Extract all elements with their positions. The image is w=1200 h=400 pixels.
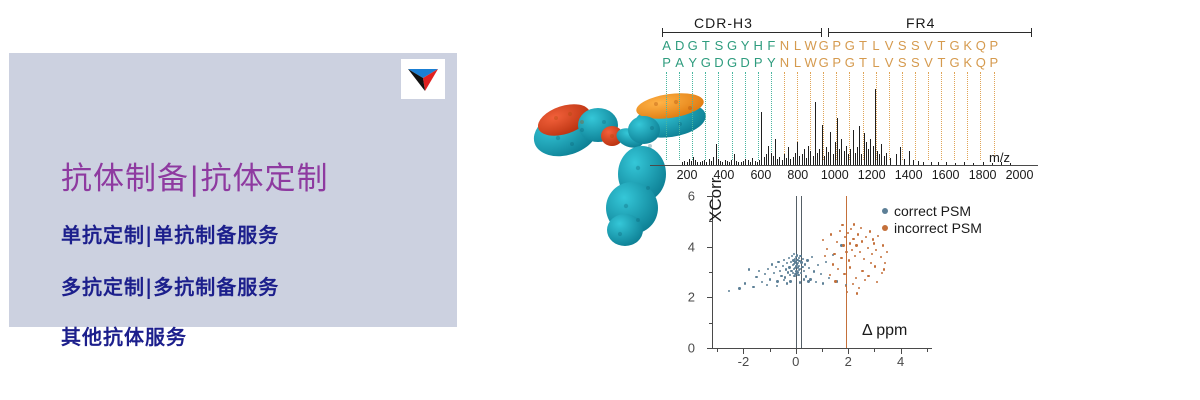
scatter-point [876, 281, 878, 283]
spectrum-peak [873, 146, 874, 165]
scatter-point [870, 262, 872, 264]
residue-fr-0-15: Q [974, 38, 987, 53]
scatter-point [808, 267, 810, 269]
spectrum-peak [848, 154, 849, 165]
residue-cdr-0-2: G [686, 38, 699, 53]
spectrum-peak [819, 149, 820, 165]
scatter-point [804, 263, 806, 265]
scatter-point [851, 249, 853, 251]
spectrum-peak [752, 158, 753, 165]
residue-cdr-0-1: D [673, 38, 686, 53]
spectrum-peak [875, 89, 876, 165]
scatter-point [849, 242, 851, 244]
spectrum-peak [784, 154, 785, 165]
scatter-x-label--2: -2 [738, 354, 750, 369]
spectrum-peak [909, 151, 910, 165]
scatter-point [857, 233, 859, 235]
scatter-point [788, 257, 790, 259]
scatter-point [767, 268, 769, 270]
scatter-point [789, 274, 791, 276]
scatter-point [798, 257, 800, 259]
mz-axis-label: m/z [989, 150, 1010, 165]
residue-fr-0-1: L [791, 38, 804, 53]
residue-fr-0-13: G [948, 38, 961, 53]
scatter-point [748, 268, 750, 270]
scatter-point [800, 261, 802, 263]
scatter-x-label-2: 2 [845, 354, 852, 369]
spectrum-peak [797, 142, 798, 165]
spectrum-peak [771, 153, 772, 165]
company-logo [401, 59, 445, 99]
scatter-x-axis [712, 348, 932, 349]
spectrum-baseline-axis [650, 165, 1038, 166]
residue-cdr-1-2: Y [686, 55, 699, 70]
scatter-point [839, 230, 841, 232]
residue-fr-0-16: P [987, 38, 1000, 53]
scatter-point [769, 278, 771, 280]
residue-fr-1-8: V [883, 55, 896, 70]
scatter-point [815, 281, 817, 283]
spectrum-peak [857, 147, 858, 165]
scatter-legend: correct PSM incorrect PSM [882, 202, 1012, 236]
legend-label-correct: correct PSM [894, 203, 971, 219]
scatter-point [807, 280, 809, 282]
scatter-x-axis-label: Δ ppm [862, 322, 907, 340]
spectrum-peak [766, 154, 767, 165]
scatter-point [805, 275, 807, 277]
residue-fr-1-13: G [948, 55, 961, 70]
residue-fr-0-11: V [922, 38, 935, 53]
spectrum-peak [835, 142, 836, 165]
spectrum-peak [890, 158, 891, 165]
scatter-point [836, 241, 838, 243]
scatter-point [834, 280, 836, 282]
scatter-point [840, 257, 842, 259]
scatter-point [848, 259, 850, 261]
spectrum-peak [828, 152, 829, 165]
scatter-point [822, 239, 824, 241]
residue-cdr-1-3: G [699, 55, 712, 70]
residue-cdr-1-5: G [725, 55, 738, 70]
residue-fr-0-10: S [909, 38, 922, 53]
scatter-point [874, 265, 876, 267]
scatter-point [728, 290, 730, 292]
spectrum-peak [841, 139, 842, 165]
scatter-point [861, 270, 863, 272]
mz-tick-1000: 1000 [821, 168, 849, 182]
scatter-point [883, 268, 885, 270]
scatter-point [811, 256, 813, 258]
spectrum-peak [826, 147, 827, 165]
scatter-point [872, 238, 874, 240]
spectrum-peak [859, 126, 860, 165]
scatter-point [797, 262, 799, 264]
scatter-point [755, 276, 757, 278]
spectrum-peak [853, 130, 854, 165]
spectrum-peak [900, 147, 901, 165]
spectrum-peak [813, 156, 814, 165]
scatter-point [858, 287, 860, 289]
scatter-point [871, 253, 873, 255]
scatter-point [802, 258, 804, 260]
mz-tick-1200: 1200 [858, 168, 886, 182]
spectrum-peak [802, 154, 803, 165]
scatter-point [850, 228, 852, 230]
scatter-point [801, 266, 803, 268]
scatter-point [825, 261, 827, 263]
spectrum-peak [786, 158, 787, 165]
residue-fr-0-8: V [883, 38, 896, 53]
spectrum-peak [833, 154, 834, 165]
spectrum-peak [773, 156, 774, 165]
scatter-point [886, 251, 888, 253]
spectrum-peak [855, 153, 856, 165]
region-label-cdr-h3: CDR-H3 [694, 15, 753, 31]
scatter-point [828, 277, 830, 279]
scatter-x-label-4: 4 [897, 354, 904, 369]
residue-fr-0-12: T [935, 38, 948, 53]
scatter-point [738, 287, 740, 289]
spectrum-peak [870, 139, 871, 165]
scatter-point [832, 263, 834, 265]
spectrum-peak [817, 153, 818, 165]
spectrum-peak [881, 144, 882, 165]
promo-panel: 抗体制备|抗体定制 单抗定制|单抗制备服务 多抗定制|多抗制备服务 其他抗体服务 [9, 53, 457, 327]
spectrum-peak [793, 157, 794, 165]
scatter-point [882, 244, 884, 246]
scatter-y-label-0: 0 [688, 341, 695, 356]
antibody-sequencing-figure: CDR-H3 FR4 ADGTSGYHFNLWGPGTLVSSVTGKQP PA… [500, 0, 1200, 400]
scatter-point [779, 270, 781, 272]
residue-fr-1-16: P [987, 55, 1000, 70]
residue-fr-1-5: G [843, 55, 856, 70]
scatter-point [824, 255, 826, 257]
scatter-x-label-0: 0 [792, 354, 799, 369]
scatter-point [783, 279, 785, 281]
spectrum-peak [768, 146, 769, 165]
spectrum-peak [804, 149, 805, 165]
page-title: 抗体制备|抗体定制 [61, 153, 328, 198]
scatter-point [803, 278, 805, 280]
scatter-point [776, 280, 778, 282]
residue-fr-0-9: S [896, 38, 909, 53]
promo-link-other-services[interactable]: 其他抗体服务 [61, 321, 187, 350]
residue-fr-0-2: W [804, 38, 817, 53]
scatter-point [788, 266, 790, 268]
spectrum-peak [844, 151, 845, 165]
residue-fr-0-5: G [843, 38, 856, 53]
residue-cdr-0-6: Y [739, 38, 752, 53]
spectrum-peak [896, 154, 897, 165]
residue-fr-1-9: S [896, 55, 909, 70]
psm-scatter-plot: 0246-2024 XCorr Δ ppm correct PSM incorr… [696, 196, 932, 356]
spectrum-peak [868, 149, 869, 165]
scatter-point [856, 292, 858, 294]
residue-fr-1-11: V [922, 55, 935, 70]
region-bar-cdr-h3 [662, 32, 822, 33]
spectrum-peak [815, 102, 816, 165]
scatter-point [863, 258, 865, 260]
spectrum-peak [884, 156, 885, 165]
scatter-point [761, 281, 763, 283]
spectrum-peak [810, 151, 811, 165]
spectrum-peak [779, 157, 780, 165]
scatter-point [830, 233, 832, 235]
spectrum-peak [761, 112, 762, 165]
legend-item-correct-psm: correct PSM [882, 202, 1012, 219]
scatter-point [845, 251, 847, 253]
spectrum-peak [713, 157, 714, 165]
spectrum-peak [861, 154, 862, 165]
spectrum-peak [788, 147, 789, 165]
scatter-y-label-4: 4 [688, 239, 695, 254]
residue-fr-1-0: N [778, 55, 791, 70]
mz-tick-1400: 1400 [895, 168, 923, 182]
promo-link-monoclonal[interactable]: 单抗定制|单抗制备服务 [61, 219, 279, 248]
residue-fr-0-6: T [856, 38, 869, 53]
scatter-y-label-2: 2 [688, 290, 695, 305]
mz-tick-800: 800 [787, 168, 808, 182]
residue-cdr-0-7: H [752, 38, 765, 53]
scatter-point [861, 240, 863, 242]
scatter-point [777, 261, 779, 263]
region-label-fr4: FR4 [906, 15, 935, 31]
spectrum-peak [808, 146, 809, 165]
scatter-point [860, 227, 862, 229]
mz-tick-1800: 1800 [969, 168, 997, 182]
mz-tick-2000: 2000 [1006, 168, 1034, 182]
mz-tick-200: 200 [677, 168, 698, 182]
sequence-row-bottom: PAYGDGDPYNLWGPGTLVSSVTGKQP [660, 55, 1000, 72]
residue-cdr-0-8: F [765, 38, 778, 53]
scatter-point [873, 242, 875, 244]
scatter-point [845, 285, 847, 287]
residue-cdr-0-5: G [725, 38, 738, 53]
scatter-point [820, 273, 822, 275]
scatter-point [855, 277, 857, 279]
scatter-point [849, 266, 851, 268]
scatter-point [783, 259, 785, 261]
scatter-point [789, 280, 791, 282]
spectrum-peak [764, 157, 765, 165]
residue-fr-1-3: G [817, 55, 830, 70]
scatter-point [813, 270, 815, 272]
scatter-point [867, 275, 869, 277]
spectrum-peak [824, 156, 825, 165]
scatter-point [798, 265, 800, 267]
residue-cdr-1-1: A [673, 55, 686, 70]
mz-tick-1600: 1600 [932, 168, 960, 182]
scatter-point [852, 238, 854, 240]
legend-item-incorrect-psm: incorrect PSM [882, 219, 1012, 236]
spectrum-peak [877, 151, 878, 165]
scatter-point [780, 275, 782, 277]
sequence-row-top: ADGTSGYHFNLWGPGTLVSSVTGKQP [660, 38, 1000, 55]
scatter-point [877, 235, 879, 237]
scatter-point [826, 248, 828, 250]
scatter-point [773, 272, 775, 274]
residue-fr-1-14: K [961, 55, 974, 70]
residue-fr-1-2: W [804, 55, 817, 70]
spectrum-peak [795, 153, 796, 165]
residue-fr-1-6: T [856, 55, 869, 70]
scatter-point [791, 255, 793, 257]
spectrum-peak [775, 139, 776, 165]
scatter-point [884, 262, 886, 264]
scatter-point [771, 263, 773, 265]
scatter-y-axis-label: XCorr [706, 178, 726, 222]
scatter-point [841, 224, 843, 226]
chevron-logo-icon [406, 64, 440, 94]
scatter-point [842, 244, 844, 246]
scatter-point [775, 266, 777, 268]
legend-label-incorrect: incorrect PSM [894, 220, 982, 236]
spectrum-peak [839, 149, 840, 165]
spectrum-peak [864, 133, 865, 165]
residue-fr-1-15: Q [974, 55, 987, 70]
scatter-point [854, 255, 856, 257]
scatter-point [782, 265, 784, 267]
scatter-point [847, 232, 849, 234]
spectrum-peak [846, 146, 847, 165]
scatter-point [764, 273, 766, 275]
scatter-y-label-6: 6 [688, 189, 695, 204]
mass-spectrum-plot [650, 74, 1038, 166]
scatter-point [817, 264, 819, 266]
scatter-point [843, 273, 845, 275]
scatter-point [797, 274, 799, 276]
scatter-point [744, 282, 746, 284]
promo-link-polyclonal[interactable]: 多抗定制|多抗制备服务 [61, 271, 279, 300]
scatter-point [837, 268, 839, 270]
residue-cdr-0-3: T [699, 38, 712, 53]
residue-fr-0-3: G [817, 38, 830, 53]
spectrum-peak [866, 142, 867, 165]
scatter-point [752, 286, 754, 288]
spectrum-peak [716, 144, 717, 165]
scatter-vline-2 [846, 196, 847, 348]
scatter-point [809, 278, 811, 280]
scatter-point [864, 279, 866, 281]
mz-tick-600: 600 [750, 168, 771, 182]
scatter-point [875, 249, 877, 251]
residue-cdr-1-8: Y [765, 55, 778, 70]
scatter-point [880, 256, 882, 258]
residue-cdr-0-0: A [660, 38, 673, 53]
spectrum-peak [879, 154, 880, 165]
scatter-point [766, 284, 768, 286]
scatter-point [758, 270, 760, 272]
sequence-region-bars: CDR-H3 FR4 [662, 18, 1032, 40]
spectrum-peak [886, 153, 887, 165]
residue-fr-0-0: N [778, 38, 791, 53]
residue-fr-0-14: K [961, 38, 974, 53]
scatter-point [776, 285, 778, 287]
legend-dot-correct [882, 208, 888, 214]
region-bar-fr4 [828, 32, 1032, 33]
residue-fr-1-7: L [870, 55, 883, 70]
residue-fr-1-12: T [935, 55, 948, 70]
residue-fr-1-1: L [791, 55, 804, 70]
spectrum-peak [837, 118, 838, 166]
spectrum-peak [734, 154, 735, 165]
residue-fr-0-7: L [870, 38, 883, 53]
scatter-point [853, 223, 855, 225]
scatter-point [852, 283, 854, 285]
scatter-point [859, 251, 861, 253]
spectrum-peak [799, 156, 800, 165]
residue-fr-0-4: P [830, 38, 843, 53]
spectrum-peak [830, 132, 831, 165]
scatter-point [806, 259, 808, 261]
scatter-point [829, 274, 831, 276]
residue-fr-1-4: P [830, 55, 843, 70]
spectrum-peak [693, 157, 694, 165]
residue-cdr-1-4: D [712, 55, 725, 70]
scatter-point [869, 230, 871, 232]
residue-cdr-1-0: P [660, 55, 673, 70]
residue-cdr-0-4: S [712, 38, 725, 53]
legend-dot-incorrect [882, 225, 888, 231]
scatter-point [803, 270, 805, 272]
scatter-point [799, 281, 801, 283]
scatter-point [786, 262, 788, 264]
spectrum-peak [806, 158, 807, 165]
residue-fr-1-10: S [909, 55, 922, 70]
spectrum-peak [822, 125, 823, 166]
residue-cdr-1-6: D [739, 55, 752, 70]
scatter-point [867, 247, 869, 249]
scatter-point [855, 244, 857, 246]
scatter-point [786, 282, 788, 284]
residue-cdr-1-7: P [752, 55, 765, 70]
scatter-point [881, 272, 883, 274]
scatter-point [822, 282, 824, 284]
scatter-point [865, 236, 867, 238]
spectrum-peak [850, 149, 851, 165]
